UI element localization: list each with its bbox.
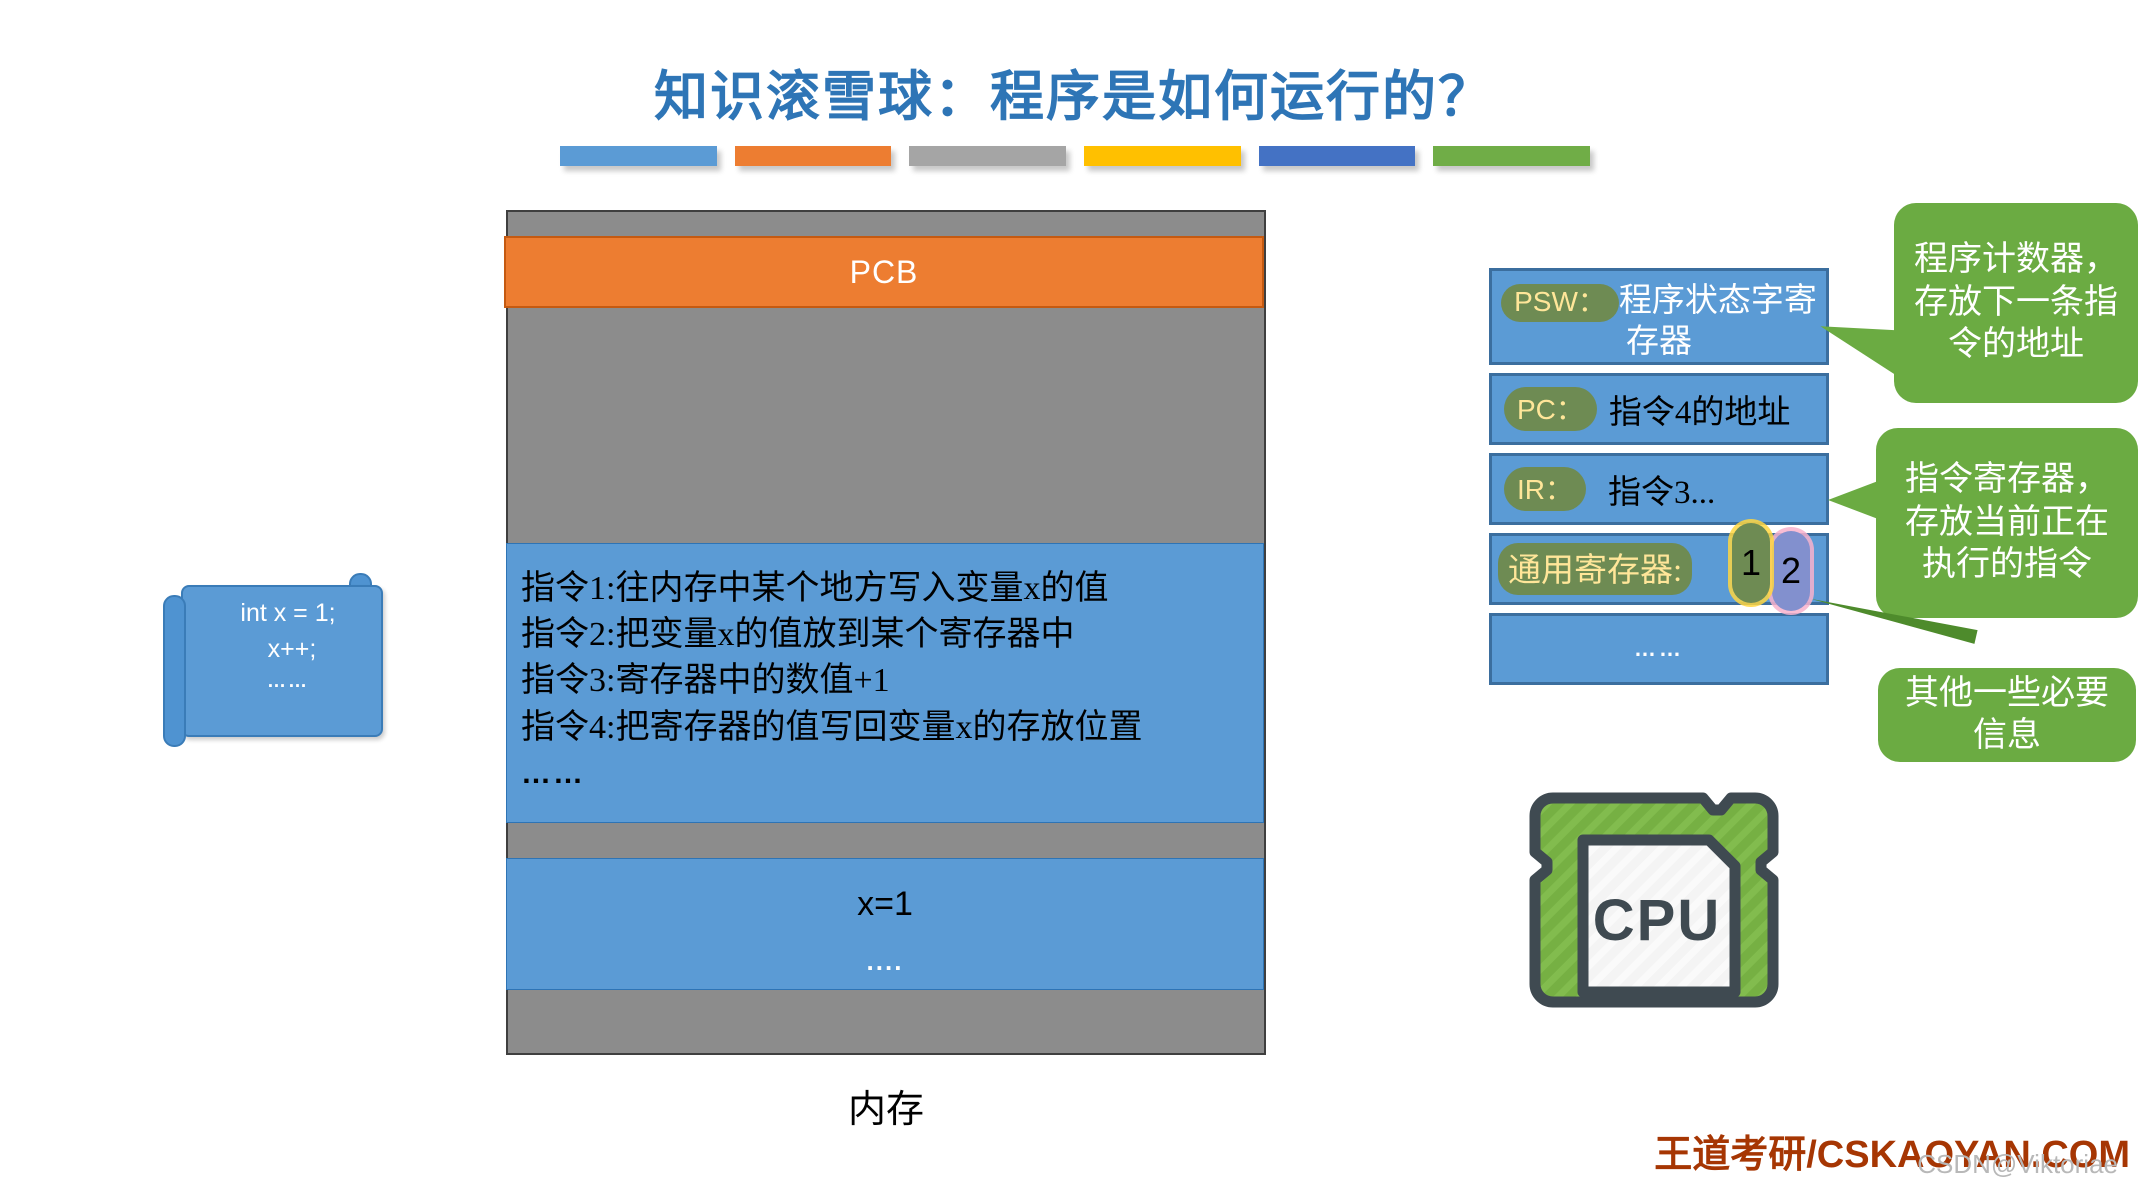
callout-pc: 程序计数器，存放下一条指令的地址 — [1894, 203, 2138, 403]
pcb-label: PCB — [850, 254, 919, 291]
cpu-chip-label: CPU — [1593, 888, 1721, 953]
instruction-line: 指令1:往内存中某个地方写入变量x的值 — [521, 566, 1263, 612]
register-tag-ir: IR： — [1504, 467, 1586, 511]
instruction-line: 指令3:寄存器中的数值+1 — [521, 658, 1263, 704]
source-code-scroll-icon: int x = 1; x++; …… — [163, 573, 383, 748]
scroll-roll-left — [163, 595, 186, 747]
title-accent-bars — [560, 146, 1590, 166]
footer-brand: 王道考研/CSKAOYAN.COM — [1654, 1123, 2130, 1178]
register-value-psw: 程序状态字寄存器 — [1619, 283, 1817, 360]
cpu-register-panel: PSW：程序状态字寄存器 PC： 指令4的地址 IR： 指令3... 通用寄存器… — [1489, 268, 1829, 753]
instruction-ellipsis: …… — [521, 757, 1263, 791]
accent-bar-1 — [560, 146, 717, 166]
pcb-band: PCB — [504, 236, 1264, 308]
accent-bar-2 — [735, 146, 892, 166]
general-register-value-pill-1: 1 — [1732, 523, 1770, 603]
code-line-3: …… — [193, 668, 383, 696]
accent-bar-5 — [1259, 146, 1416, 166]
register-row-pc: PC： 指令4的地址 — [1489, 373, 1829, 445]
page-title: 知识滚雪球：程序是如何运行的？ — [0, 52, 2148, 131]
general-register-value-pill-2: 2 — [1772, 531, 1810, 611]
register-row-psw: PSW：程序状态字寄存器 — [1489, 268, 1829, 365]
accent-bar-3 — [909, 146, 1066, 166]
data-segment: x=1 .... — [506, 858, 1264, 990]
code-line-2: x++; — [193, 631, 383, 667]
register-tag-general-purpose: 通用寄存器: — [1498, 543, 1692, 595]
register-row-ir: IR： 指令3... — [1489, 453, 1829, 525]
scroll-code-text: int x = 1; x++; …… — [193, 595, 383, 695]
register-tag-psw: PSW： — [1501, 284, 1619, 322]
cpu-chip-icon: CPU — [1519, 782, 1789, 1052]
register-tag-pc: PC： — [1504, 387, 1597, 431]
register-value-pc: 指令4的地址 — [1609, 385, 1791, 433]
data-ellipsis: .... — [867, 946, 904, 977]
data-variable-value: x=1 — [857, 885, 913, 924]
memory-label: 内存 — [506, 1078, 1266, 1133]
accent-bar-4 — [1084, 146, 1241, 166]
register-value-ir: 指令3... — [1608, 465, 1715, 513]
callout-misc: 其他一些必要信息 — [1878, 668, 2136, 762]
instruction-line: 指令2:把变量x的值放到某个寄存器中 — [521, 612, 1263, 658]
instruction-segment: 指令1:往内存中某个地方写入变量x的值 指令2:把变量x的值放到某个寄存器中 指… — [506, 543, 1264, 823]
callout-ir: 指令寄存器，存放当前正在执行的指令 — [1876, 428, 2138, 618]
instruction-line: 指令4:把寄存器的值写回变量x的存放位置 — [521, 705, 1263, 751]
accent-bar-6 — [1433, 146, 1590, 166]
code-line-1: int x = 1; — [193, 595, 383, 631]
register-row-ellipsis: …… — [1489, 613, 1829, 685]
